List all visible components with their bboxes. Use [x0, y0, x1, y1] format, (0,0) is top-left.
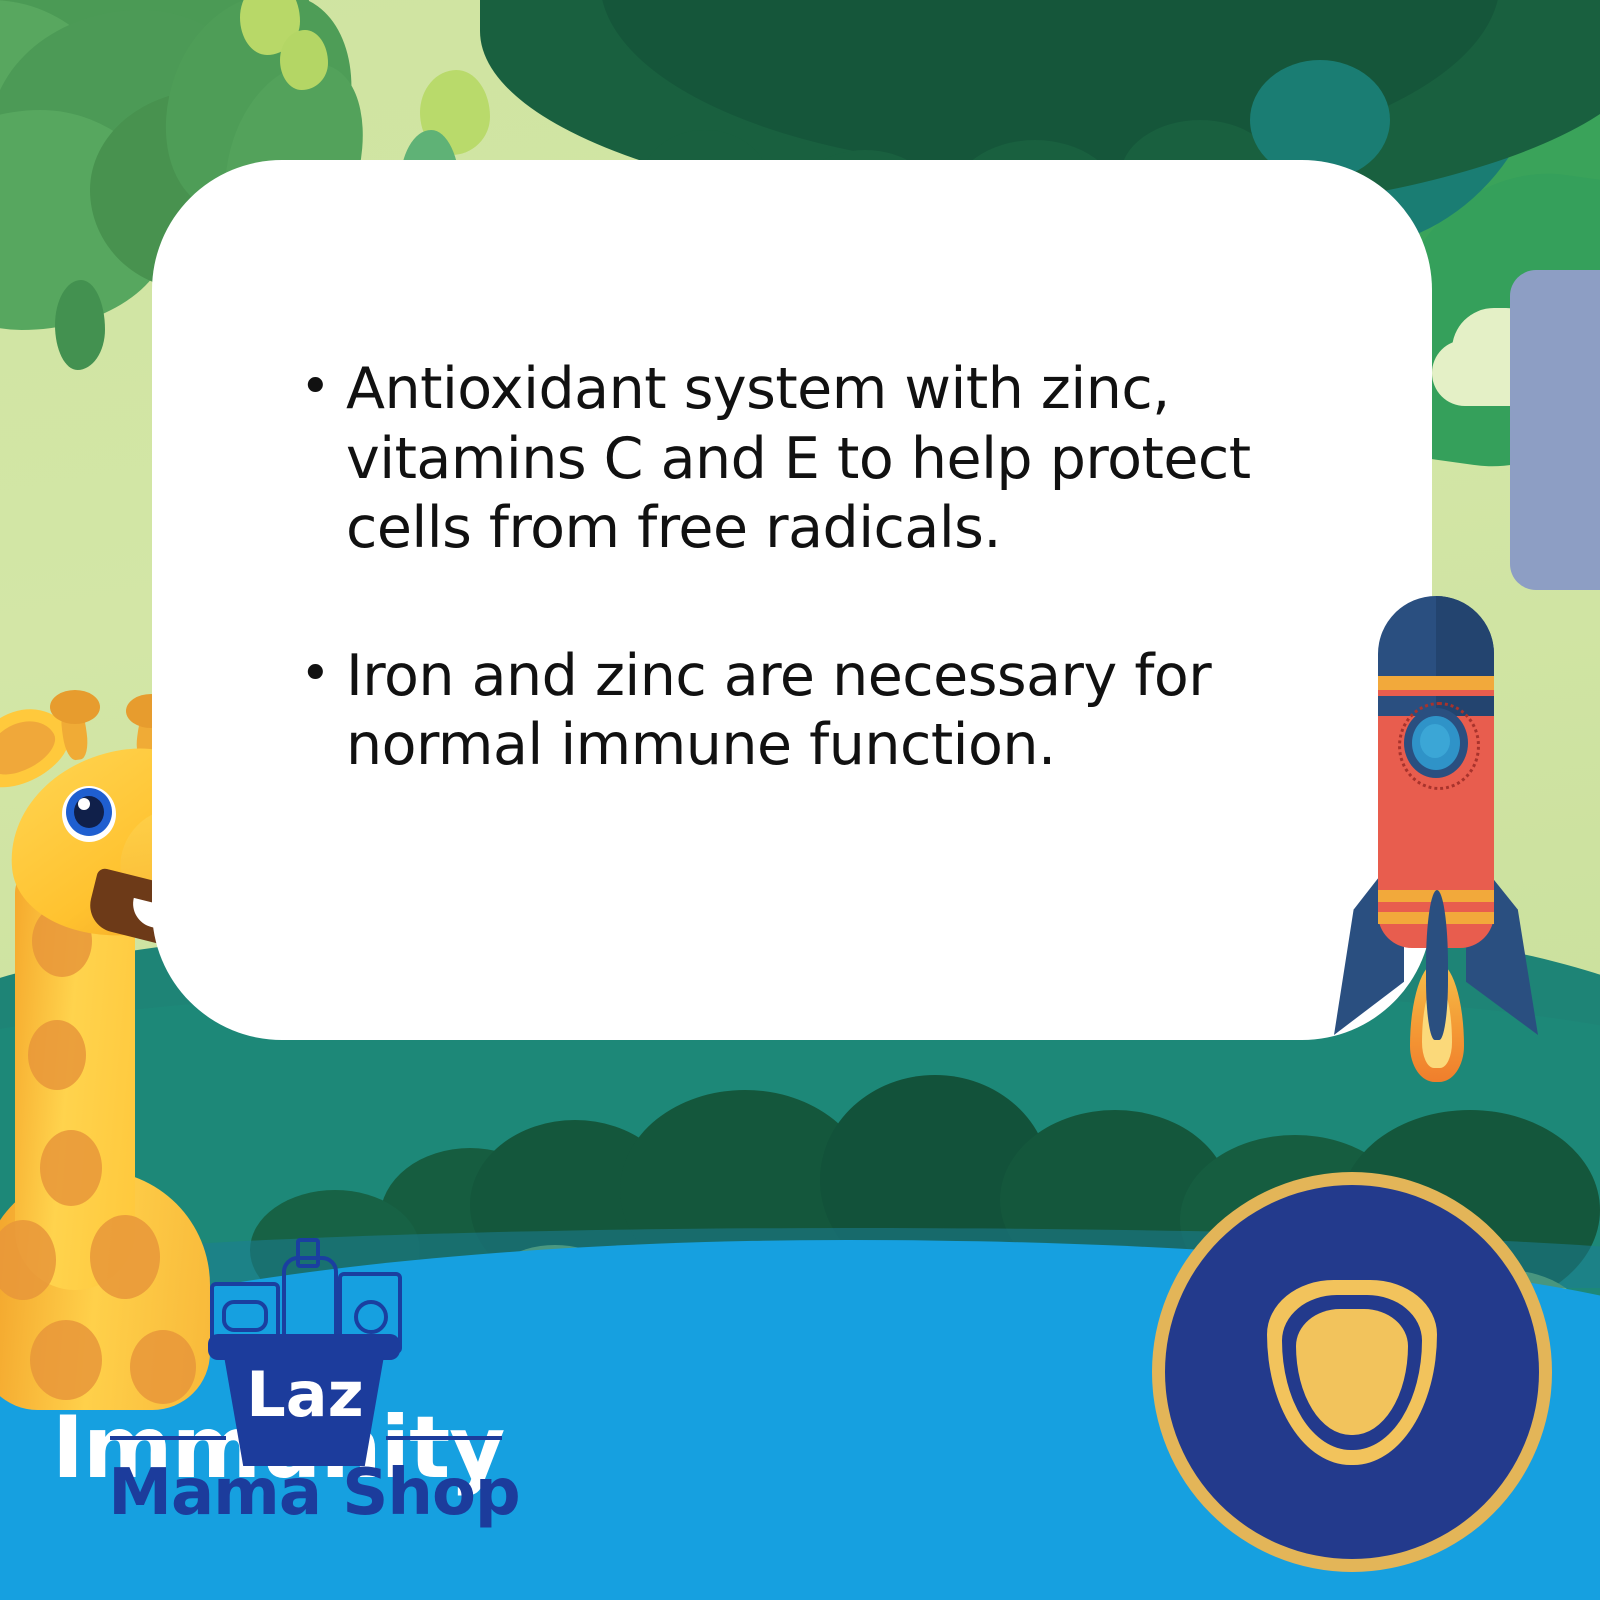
brand-rule-left [110, 1436, 226, 1440]
list-item: • Antioxidant system with zinc, vitamins… [300, 355, 1260, 564]
rocket-icon [1330, 590, 1540, 1060]
giraffe-spot-2 [28, 1020, 86, 1090]
product-soap-detail [222, 1300, 268, 1332]
list-item: • Iron and zinc are necessary for normal… [300, 642, 1260, 781]
rocket-stripe-top-gap [1378, 690, 1494, 696]
promo-graphic: • Antioxidant system with zinc, vitamins… [0, 0, 1600, 1600]
shield-icon [1267, 1280, 1437, 1465]
bullet-list: • Antioxidant system with zinc, vitamins… [300, 355, 1260, 781]
basket-contents [204, 1238, 404, 1348]
bullet-spacer [300, 564, 1260, 642]
tree-leaf-highlight-2 [280, 30, 328, 90]
laz-mama-shop-watermark: Laz Mama Shop [180, 1238, 460, 1498]
product-bottle-nozzle [296, 1238, 320, 1268]
rocket-nose-shadow [1436, 596, 1494, 716]
background-post [1510, 270, 1600, 590]
immunity-shield-badge [1152, 1172, 1552, 1572]
shield-core [1296, 1309, 1408, 1435]
bullet-marker: • [300, 642, 346, 706]
tree-leaf-drop-2 [55, 280, 105, 370]
badge-inner-circle [1165, 1185, 1539, 1559]
brand-name: Laz [240, 1364, 370, 1426]
giraffe-spot-5 [90, 1215, 160, 1299]
giraffe-horn-left-top [50, 690, 100, 724]
rocket-stripe-top-1 [1378, 676, 1494, 690]
product-box-star [354, 1300, 388, 1334]
giraffe-spot-6 [30, 1320, 102, 1400]
rocket-window-highlight [1420, 724, 1450, 758]
giraffe-spot-3 [40, 1130, 102, 1206]
shield-ring [1282, 1295, 1422, 1450]
bullet-text: Iron and zinc are necessary for normal i… [346, 642, 1260, 781]
rocket-center-fin [1426, 890, 1448, 1040]
brand-subtitle: Mama Shop [74, 1456, 554, 1530]
bullet-marker: • [300, 355, 346, 419]
brand-rule-right [386, 1436, 502, 1440]
bullet-text: Antioxidant system with zinc, vitamins C… [346, 355, 1260, 564]
giraffe-eye-left-shine [78, 798, 90, 810]
